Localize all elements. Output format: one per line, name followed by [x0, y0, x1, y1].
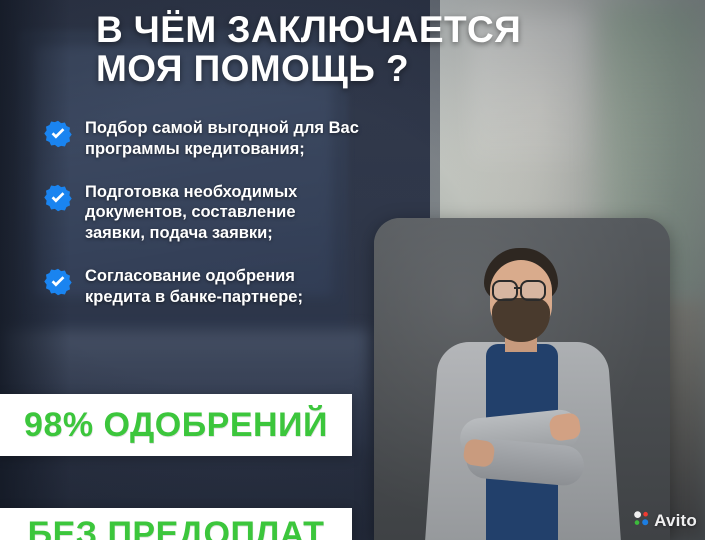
headline-line-2: МОЯ ПОМОЩЬ ?: [96, 49, 616, 88]
watermark-label: Avito: [654, 511, 697, 531]
hand-right: [462, 438, 495, 468]
agent-photo-card: [374, 218, 670, 540]
poster-image: В ЧЁМ ЗАКЛЮЧАЕТСЯ МОЯ ПОМОЩЬ ? Подбор са…: [0, 0, 705, 540]
list-item-label: Подготовка необходимых документов, соста…: [85, 182, 297, 244]
list-item-label: Подбор самой выгодной для Вас программы …: [85, 118, 359, 160]
list-item-label: Согласование одобрения кредита в банке-п…: [85, 266, 303, 308]
list-item: Согласование одобрения кредита в банке-п…: [44, 266, 424, 308]
list-item: Подбор самой выгодной для Вас программы …: [44, 118, 424, 160]
check-badge-icon: [44, 120, 72, 148]
benefits-list: Подбор самой выгодной для Вас программы …: [44, 118, 424, 329]
glasses-right-lens: [520, 280, 546, 301]
approval-rate-banner: 98% ОДОБРЕНИЙ: [0, 394, 352, 456]
watermark: Avito: [633, 510, 697, 532]
glasses-left-lens: [492, 280, 518, 301]
headline: В ЧЁМ ЗАКЛЮЧАЕТСЯ МОЯ ПОМОЩЬ ?: [96, 10, 616, 88]
headline-line-1: В ЧЁМ ЗАКЛЮЧАЕТСЯ: [96, 9, 521, 50]
approval-rate-label: 98% ОДОБРЕНИЙ: [24, 406, 328, 445]
check-badge-icon: [44, 184, 72, 212]
avito-dots-icon: [633, 510, 650, 532]
check-badge-icon: [44, 268, 72, 296]
list-item: Подготовка необходимых документов, соста…: [44, 182, 424, 244]
no-prepayment-banner: БЕЗ ПРЕДОПЛАТ: [0, 508, 352, 540]
no-prepayment-label: БЕЗ ПРЕДОПЛАТ: [28, 515, 325, 540]
